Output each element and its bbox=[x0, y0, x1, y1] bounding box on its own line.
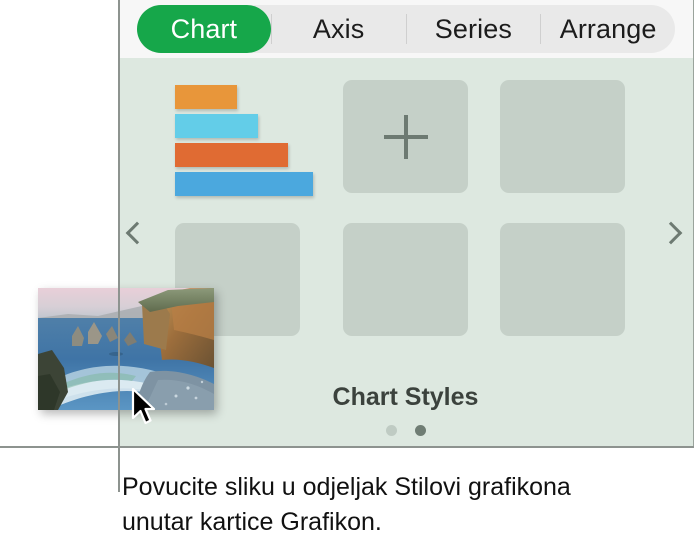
chevron-right-icon[interactable] bbox=[656, 216, 686, 250]
chart-style-tile-5[interactable] bbox=[343, 223, 468, 336]
chart-style-tile-3[interactable] bbox=[500, 80, 625, 193]
page-dot-2[interactable] bbox=[415, 425, 426, 436]
chart-style-tile-6[interactable] bbox=[500, 223, 625, 336]
tab-axis[interactable]: Axis bbox=[272, 5, 406, 53]
chevron-left-glyph bbox=[126, 222, 149, 245]
bar-series-3 bbox=[175, 143, 288, 167]
tab-chart[interactable]: Chart bbox=[137, 5, 271, 53]
page-dot-1[interactable] bbox=[386, 425, 397, 436]
inspector-tab-strip: Chart Axis Series Arrange bbox=[118, 0, 693, 58]
bar-series-2 bbox=[175, 114, 258, 138]
callout-caption: Povucite sliku u odjeljak Stilovi grafik… bbox=[122, 470, 642, 540]
canvas-bottom-border bbox=[0, 446, 694, 448]
callout-leader-line bbox=[118, 0, 120, 492]
add-chart-style-button[interactable] bbox=[343, 80, 468, 193]
bar-chart-preview[interactable] bbox=[175, 80, 335, 193]
chevron-right-glyph bbox=[660, 222, 683, 245]
coastal-landscape-photo bbox=[38, 288, 214, 410]
tab-arrange[interactable]: Arrange bbox=[541, 5, 675, 53]
segmented-control[interactable]: Chart Axis Series Arrange bbox=[137, 5, 675, 53]
arrow-cursor bbox=[131, 388, 157, 426]
tab-series[interactable]: Series bbox=[407, 5, 541, 53]
dragged-image-thumbnail[interactable] bbox=[38, 288, 214, 410]
chevron-left-icon[interactable] bbox=[122, 216, 152, 250]
bar-series-1 bbox=[175, 85, 237, 109]
bar-series-4 bbox=[175, 172, 313, 196]
plus-icon bbox=[384, 115, 428, 159]
pagination-dots[interactable] bbox=[118, 425, 693, 436]
